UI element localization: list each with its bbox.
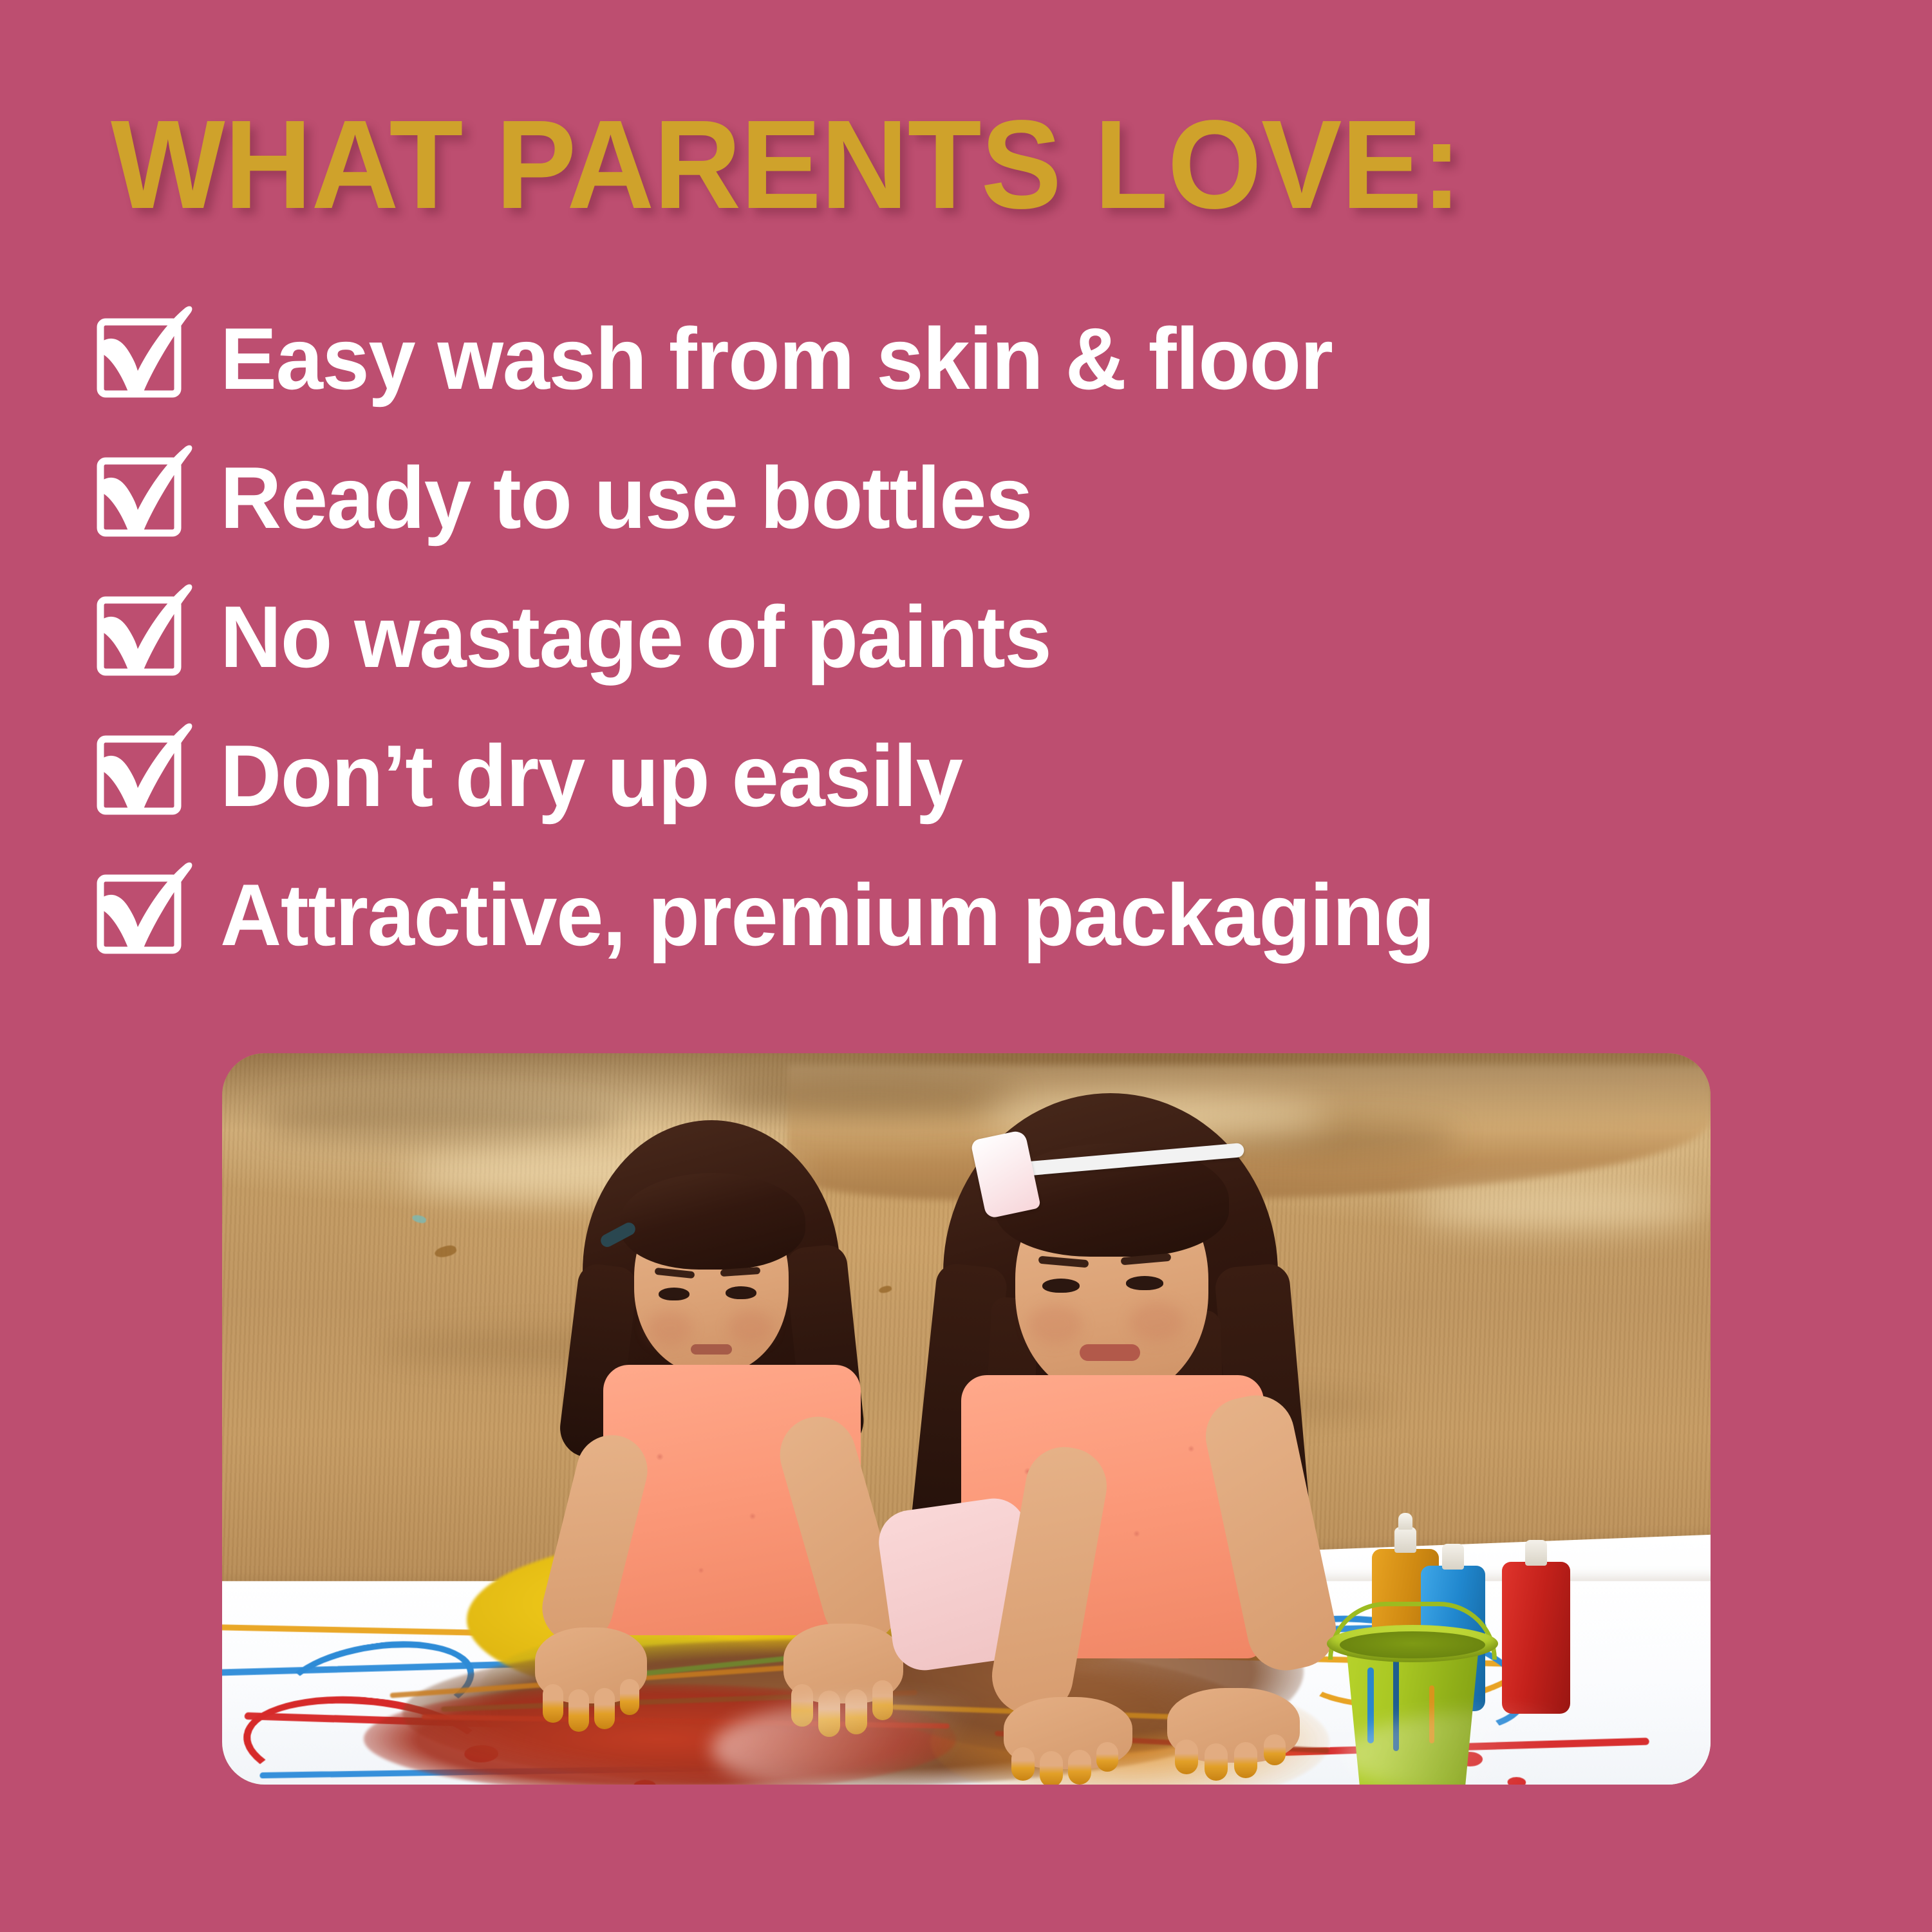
finger	[1175, 1740, 1198, 1774]
bottle-cap	[1442, 1544, 1464, 1570]
checkbox-check-icon	[97, 305, 193, 408]
finger	[543, 1684, 563, 1723]
mouth	[691, 1344, 732, 1355]
list-item: No wastage of paints	[97, 579, 1873, 718]
checkbox-check-icon	[97, 722, 193, 825]
hair-fringe	[620, 1173, 805, 1270]
checkbox-check-icon	[97, 444, 193, 547]
eye	[1126, 1276, 1163, 1290]
list-item: Easy wash from skin & floor	[97, 301, 1873, 440]
eye	[1042, 1279, 1080, 1293]
finger	[1096, 1742, 1118, 1772]
finger	[1068, 1750, 1091, 1785]
checkbox-check-icon	[97, 861, 193, 964]
list-item-label: Attractive, premium packaging	[220, 867, 1824, 963]
mouth	[1080, 1344, 1140, 1361]
list-item-label: No wastage of paints	[220, 588, 1824, 685]
list-item-label: Easy wash from skin & floor	[220, 310, 1824, 407]
finger	[845, 1689, 867, 1734]
ground-highlight	[1413, 1188, 1709, 1231]
paint-splat	[1393, 1657, 1399, 1751]
page-title: WHAT PARENTS LOVE:	[111, 102, 1779, 228]
eye	[659, 1288, 689, 1300]
cheek	[647, 1311, 692, 1346]
benefits-list: Easy wash from skin & floor Ready to use…	[97, 301, 1873, 997]
bottle-cap	[1394, 1527, 1416, 1553]
paint-splat	[1367, 1667, 1374, 1743]
list-item: Don’t dry up easily	[97, 718, 1873, 858]
list-item-label: Ready to use bottles	[220, 449, 1824, 546]
finger	[1264, 1734, 1286, 1765]
ground-shadow	[711, 1078, 1020, 1116]
finger	[1234, 1742, 1257, 1778]
checkbox-check-icon	[97, 583, 193, 686]
ground-shadow	[261, 1098, 621, 1143]
cheek	[1028, 1304, 1082, 1344]
red-paint-bottle	[1502, 1562, 1570, 1714]
eye	[726, 1286, 756, 1299]
paint-splat	[1429, 1685, 1434, 1743]
bucket-interior	[1340, 1631, 1485, 1658]
bottle-nozzle	[1398, 1513, 1412, 1530]
finger	[1040, 1751, 1063, 1785]
photo-scene	[222, 1053, 1711, 1785]
finger	[1011, 1747, 1035, 1781]
finger	[818, 1691, 840, 1737]
paint-splat	[1507, 1777, 1526, 1785]
finger	[791, 1684, 813, 1727]
finger	[1205, 1743, 1228, 1781]
lifestyle-photo	[222, 1053, 1711, 1785]
cheek	[1130, 1302, 1184, 1342]
finger	[872, 1680, 893, 1720]
finger	[594, 1688, 615, 1729]
list-item-label: Don’t dry up easily	[220, 727, 1824, 824]
bottle-cap	[1525, 1540, 1547, 1566]
finger	[620, 1679, 639, 1715]
poster-canvas: WHAT PARENTS LOVE: Easy wash from skin &…	[0, 0, 1932, 1932]
list-item: Ready to use bottles	[97, 440, 1873, 579]
cheek	[728, 1309, 773, 1344]
list-item: Attractive, premium packaging	[97, 858, 1873, 997]
finger	[568, 1689, 589, 1732]
